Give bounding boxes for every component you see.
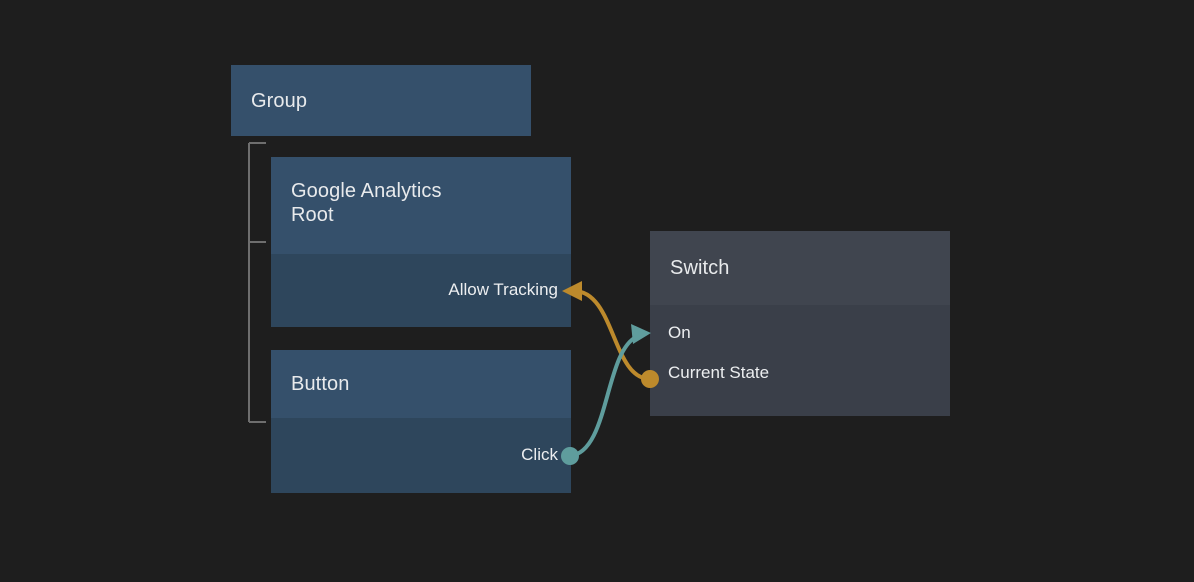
node-group-header[interactable]: Group xyxy=(231,65,531,136)
connection-wires xyxy=(0,0,1194,582)
node-group-title: Group xyxy=(251,89,307,113)
wire-current-state-to-allow-tracking[interactable] xyxy=(562,281,659,388)
port-on[interactable]: On xyxy=(650,313,950,353)
hierarchy-bracket xyxy=(0,0,1194,582)
node-google-analytics-root-header[interactable]: Google Analytics Root xyxy=(271,157,571,254)
node-google-analytics-root-body: Allow Tracking xyxy=(271,254,571,327)
node-button-body: Click xyxy=(271,418,571,493)
node-google-analytics-root-title: Google Analytics Root xyxy=(291,179,442,227)
wire-path-teal xyxy=(570,336,638,456)
wire-click-to-on[interactable] xyxy=(561,324,651,465)
node-switch-title: Switch xyxy=(670,256,730,280)
port-click-label: Click xyxy=(521,445,558,465)
node-button-title: Button xyxy=(291,372,349,396)
port-current-state-label: Current State xyxy=(668,363,769,383)
wire-path-orange xyxy=(574,291,650,379)
port-allow-tracking-label: Allow Tracking xyxy=(448,280,558,300)
node-switch[interactable]: Switch On Current State xyxy=(650,231,950,416)
wire-arrow-teal xyxy=(631,324,651,344)
node-switch-header[interactable]: Switch xyxy=(650,231,950,305)
node-switch-body: On Current State xyxy=(650,305,950,416)
node-google-analytics-root[interactable]: Google Analytics Root Allow Tracking xyxy=(271,157,571,327)
port-current-state[interactable]: Current State xyxy=(650,353,950,393)
port-on-label: On xyxy=(668,323,691,343)
port-allow-tracking[interactable]: Allow Tracking xyxy=(271,270,571,310)
node-button[interactable]: Button Click xyxy=(271,350,571,493)
node-button-header[interactable]: Button xyxy=(271,350,571,418)
node-group[interactable]: Group xyxy=(231,65,531,136)
port-click[interactable]: Click xyxy=(271,435,571,475)
node-graph-canvas: Group Google Analytics Root Allow Tracki… xyxy=(0,0,1194,582)
